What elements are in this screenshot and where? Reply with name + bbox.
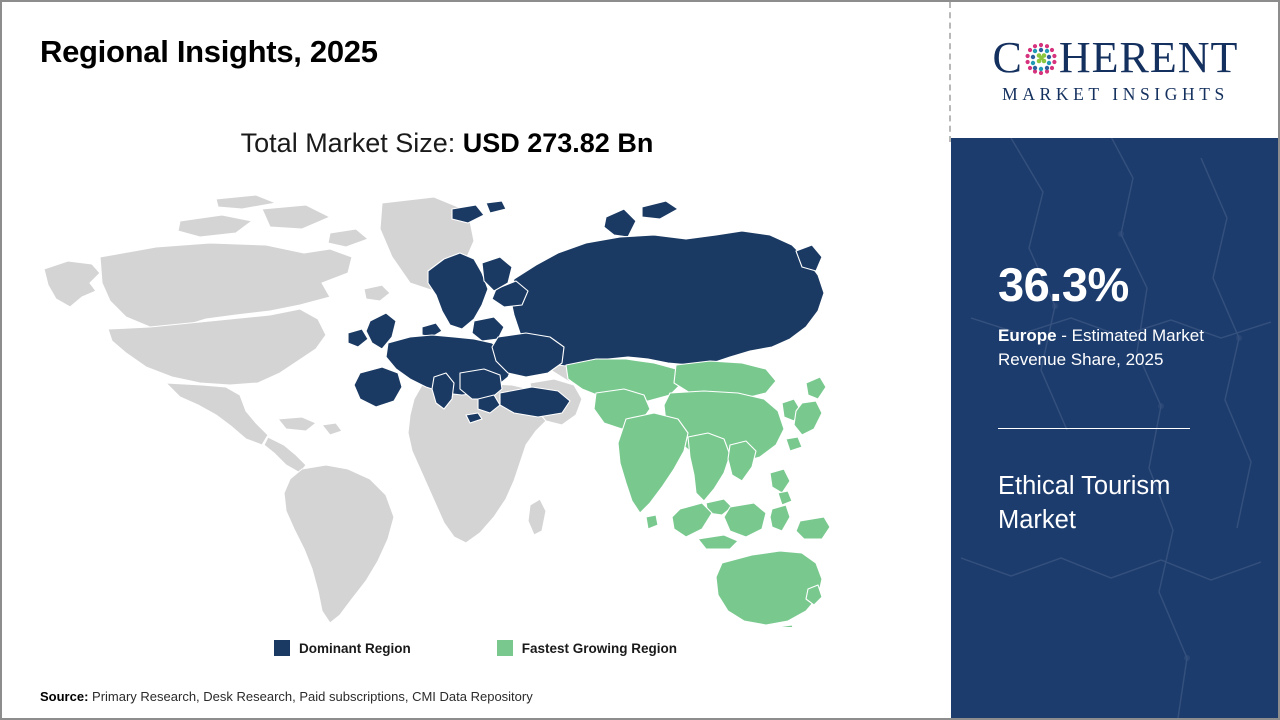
brand-logo[interactable]: C (951, 2, 1280, 138)
logo-wordmark: C (993, 35, 1239, 81)
right-column: C (951, 2, 1280, 718)
square-swatch-icon (497, 640, 513, 656)
source-text: Primary Research, Desk Research, Paid su… (88, 689, 532, 704)
legend-label-fastest: Fastest Growing Region (522, 641, 677, 656)
stat-percent-value: 36.3% (998, 261, 1129, 308)
legend-item-fastest[interactable]: Fastest Growing Region (497, 640, 677, 656)
market-name: Ethical Tourism Market (998, 470, 1238, 538)
legend-item-dominant[interactable]: Dominant Region (274, 640, 411, 656)
stat-region-name: Europe (998, 326, 1057, 345)
page-title: Regional Insights, 2025 (40, 34, 378, 70)
stat-divider-rule (998, 428, 1190, 429)
source-note: Source: Primary Research, Desk Research,… (40, 689, 533, 704)
slide-canvas: Regional Insights, 2025 Total Market Siz… (0, 0, 1280, 720)
region-fastest-asia-pacific (566, 359, 830, 627)
market-size-value: USD 273.82 Bn (463, 128, 654, 158)
logo-subtitle: MARKET INSIGHTS (1002, 84, 1229, 105)
world-map (30, 187, 830, 627)
stats-content: 36.3% Europe - Estimated Market Revenue … (998, 138, 1248, 718)
map-legend: Dominant Region Fastest Growing Region (2, 640, 949, 656)
source-label: Source: (40, 689, 88, 704)
stats-panel: 36.3% Europe - Estimated Market Revenue … (951, 138, 1280, 718)
logo-letters-herent: HERENT (1059, 36, 1239, 80)
market-size-label: Total Market Size: (241, 128, 463, 158)
left-panel: Regional Insights, 2025 Total Market Siz… (2, 2, 949, 718)
square-swatch-icon (274, 640, 290, 656)
total-market-size: Total Market Size: USD 273.82 Bn (2, 128, 892, 159)
world-map-svg (30, 187, 830, 627)
legend-label-dominant: Dominant Region (299, 641, 411, 656)
stat-description: Europe - Estimated Market Revenue Share,… (998, 324, 1241, 372)
logo-letter-c: C (993, 36, 1023, 80)
logo-dot-circle-icon (1024, 41, 1058, 75)
